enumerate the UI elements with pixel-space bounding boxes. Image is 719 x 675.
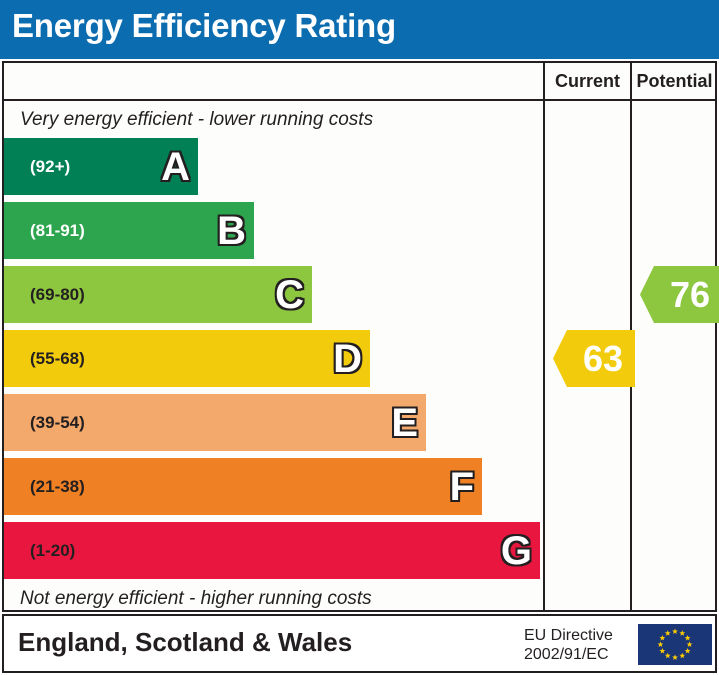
- band-letter-f: F: [450, 467, 474, 507]
- rating-table: Current Potential Very energy efficient …: [2, 61, 717, 612]
- rating-band-list: (92+)A(81-91)B(69-80)C(55-68)D(39-54)E(2…: [4, 63, 541, 610]
- band-range-label-d: (55-68): [30, 330, 85, 387]
- rating-band-d: (55-68)D: [4, 330, 370, 387]
- band-letter-d: D: [333, 339, 362, 379]
- band-letter-a: A: [161, 147, 190, 187]
- rating-band-c: (69-80)C: [4, 266, 312, 323]
- column-header-potential: Potential: [632, 63, 717, 99]
- band-range-label-c: (69-80): [30, 266, 85, 323]
- band-letter-b: B: [217, 211, 246, 251]
- rating-band-g: (1-20)G: [4, 522, 540, 579]
- band-range-label-g: (1-20): [30, 522, 75, 579]
- directive-line-2: 2002/91/EC: [524, 645, 632, 664]
- rating-band-f: (21-38)F: [4, 458, 482, 515]
- band-letter-g: G: [501, 531, 532, 571]
- band-range-label-f: (21-38): [30, 458, 85, 515]
- band-range-label-e: (39-54): [30, 394, 85, 451]
- band-range-label-a: (92+): [30, 138, 70, 195]
- column-divider-current: [543, 63, 545, 610]
- potential-rating-value: 76: [670, 274, 710, 315]
- eu-flag-icon: [638, 624, 712, 665]
- footer-region-label: England, Scotland & Wales: [18, 627, 352, 658]
- current-rating-value: 63: [583, 338, 623, 379]
- column-header-current: Current: [545, 63, 630, 99]
- directive-line-1: EU Directive: [524, 626, 632, 645]
- rating-band-a: (92+)A: [4, 138, 198, 195]
- band-range-label-b: (81-91): [30, 202, 85, 259]
- footer-directive: EU Directive 2002/91/EC: [524, 626, 632, 664]
- chart-footer: England, Scotland & Wales EU Directive 2…: [2, 614, 717, 673]
- band-letter-c: C: [275, 275, 304, 315]
- current-rating-badge: 63: [553, 330, 635, 387]
- rating-band-b: (81-91)B: [4, 202, 254, 259]
- potential-rating-badge: 76: [640, 266, 719, 323]
- chart-title-bar: Energy Efficiency Rating: [0, 0, 719, 59]
- rating-band-e: (39-54)E: [4, 394, 426, 451]
- page-title: Energy Efficiency Rating: [12, 7, 396, 45]
- energy-efficiency-rating-chart: Energy Efficiency Rating Current Potenti…: [0, 0, 719, 675]
- band-letter-e: E: [391, 403, 418, 443]
